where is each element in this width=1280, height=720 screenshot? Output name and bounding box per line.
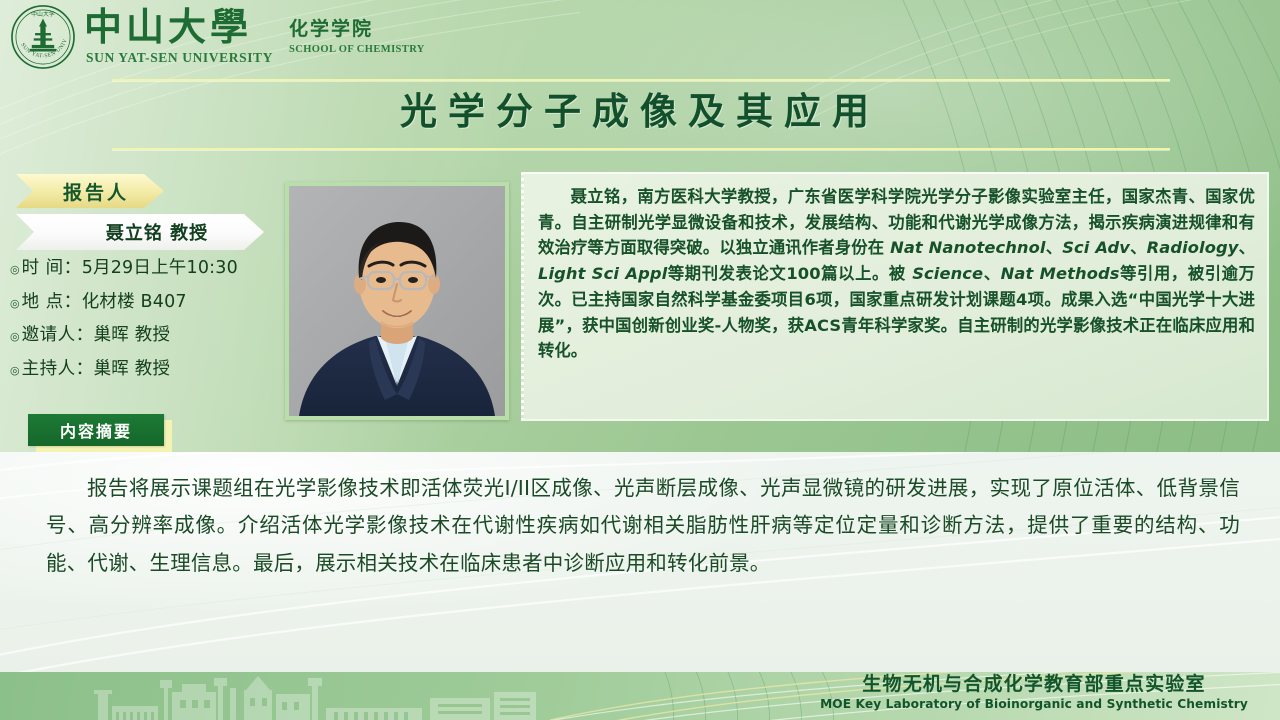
bullet-icon: ◎ <box>10 298 20 309</box>
speaker-name-banner: 聂立铭 教授 <box>16 214 264 250</box>
poster-header: 中山大学 SUN YAT-SEN UNIVERSITY 中山大學 SUN YAT… <box>0 0 1280 452</box>
school-name-block: 化学学院 SCHOOL OF CHEMISTRY <box>289 20 425 55</box>
university-name-cn: 中山大學 <box>84 8 273 46</box>
speaker-name-label: 聂立铭 教授 <box>72 219 208 245</box>
info-value-location: 化材楼 B407 <box>82 294 187 312</box>
speaker-bio-panel: 聂立铭，南方医科大学教授，广东省医学科学院光学分子影像实验室主任，国家杰青、国家… <box>521 172 1269 421</box>
info-row-inviter: ◎ 邀请人： 巢晖 教授 <box>10 327 290 345</box>
university-name-block: 中山大學 SUN YAT-SEN UNIVERSITY <box>76 8 273 66</box>
footer-lab-block: 生物无机与合成化学教育部重点实验室 MOE Key Laboratory of … <box>814 674 1254 711</box>
info-label-inviter: 邀请人： <box>22 327 94 345</box>
university-logo: 中山大学 SUN YAT-SEN UNIVERSITY 中山大學 SUN YAT… <box>10 4 425 70</box>
footer-lab-en: MOE Key Laboratory of Bioinorganic and S… <box>814 697 1254 711</box>
university-seal-icon: 中山大学 SUN YAT-SEN UNIVERSITY <box>10 4 76 70</box>
speaker-photo-frame <box>285 182 509 420</box>
info-label-location: 地 点： <box>22 294 82 312</box>
speaker-role-banner: 报告人 <box>16 174 164 208</box>
bullet-icon: ◎ <box>10 365 20 376</box>
speaker-bio-text: 聂立铭，南方医科大学教授，广东省医学科学院光学分子影像实验室主任，国家杰青、国家… <box>538 184 1255 364</box>
info-value-time: 5月29日上午10:30 <box>82 260 238 278</box>
seminar-poster: 中山大学 SUN YAT-SEN UNIVERSITY 中山大學 SUN YAT… <box>0 0 1280 720</box>
speaker-portrait <box>289 186 505 416</box>
abstract-tab-label: 内容摘要 <box>60 418 132 442</box>
page-title: 光学分子成像及其应用 <box>0 93 1280 130</box>
info-value-host: 巢晖 教授 <box>94 361 171 379</box>
abstract-tab: 内容摘要 <box>28 414 164 446</box>
info-row-time: ◎ 时 间： 5月29日上午10:30 <box>10 260 290 278</box>
svg-text:中山大学: 中山大学 <box>31 10 55 18</box>
info-label-host: 主持人： <box>22 361 94 379</box>
school-name-cn: 化学学院 <box>289 20 425 39</box>
info-label-time: 时 间： <box>22 260 82 278</box>
school-name-en: SCHOOL OF CHEMISTRY <box>289 44 425 55</box>
info-row-location: ◎ 地 点： 化材楼 B407 <box>10 294 290 312</box>
info-row-host: ◎ 主持人： 巢晖 教授 <box>10 361 290 379</box>
bullet-icon: ◎ <box>10 264 20 275</box>
footer-lab-cn: 生物无机与合成化学教育部重点实验室 <box>814 674 1254 696</box>
speaker-role-label: 报告人 <box>51 178 129 205</box>
info-value-inviter: 巢晖 教授 <box>94 327 171 345</box>
title-rule-bottom <box>112 148 1170 150</box>
university-name-en: SUN YAT-SEN UNIVERSITY <box>86 50 273 66</box>
title-rule-top <box>112 79 1170 81</box>
poster-footer: 生物无机与合成化学教育部重点实验室 MOE Key Laboratory of … <box>0 672 1280 720</box>
bullet-icon: ◎ <box>10 331 20 342</box>
seminar-info-list: ◎ 时 间： 5月29日上午10:30 ◎ 地 点： 化材楼 B407 ◎ 邀请… <box>10 260 290 394</box>
abstract-section: 报告将展示课题组在光学影像技术即活体荧光I/II区成像、光声断层成像、光声显微镜… <box>0 452 1280 672</box>
abstract-text: 报告将展示课题组在光学影像技术即活体荧光I/II区成像、光声断层成像、光声显微镜… <box>46 470 1240 582</box>
